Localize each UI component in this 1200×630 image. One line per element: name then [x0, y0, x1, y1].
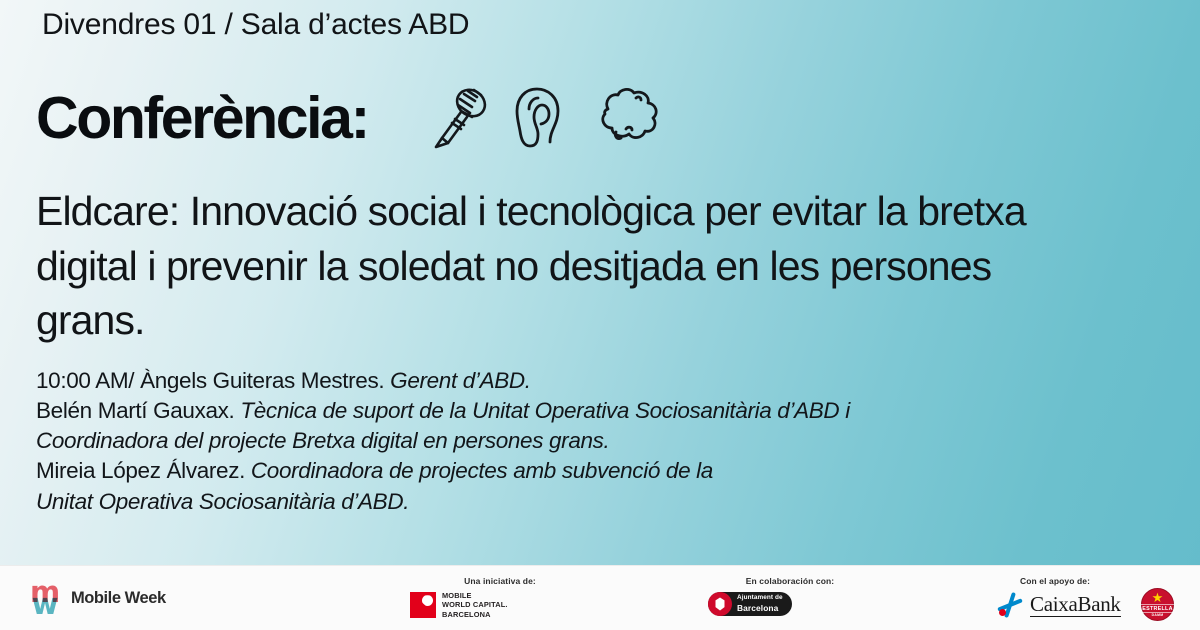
caixabank-star-icon [997, 592, 1023, 618]
initiative-cell: Una iniciativa de: MOBILE WORLD CAPITAL.… [360, 566, 640, 630]
speaker-line: Coordinadora del projecte Bretxa digital… [36, 426, 1116, 456]
damm-line-2: DAMM [1152, 613, 1164, 617]
event-title: Eldcare: Innovació social i tecnològica … [36, 184, 1096, 348]
collaboration-label: En colaboración con: [660, 576, 920, 586]
mwc-wordmark: MOBILE WORLD CAPITAL. BARCELONA [442, 591, 508, 619]
speaker-name: Mireia López Álvarez. [36, 458, 251, 483]
initiative-label: Una iniciativa de: [360, 576, 640, 586]
speaker-role: Coordinadora de projectes amb subvenció … [251, 458, 713, 483]
estrella-damm-logo[interactable]: ★ ESTRELLA DAMM [1141, 588, 1174, 621]
support-label: Con el apoyo de: [940, 576, 1170, 586]
ear-icon [512, 86, 564, 152]
collaboration-cell: En colaboración con: Ajuntament de Barce… [660, 566, 920, 630]
speaker-line: Mireia López Álvarez. Coordinadora de pr… [36, 456, 1116, 486]
speaker-line: Belén Martí Gauxax. Tècnica de suport de… [36, 396, 1116, 426]
mobile-week-wordmark: Mobile Week [71, 589, 166, 608]
doodle-icon-group [428, 86, 662, 152]
mwc-line-2: WORLD CAPITAL. [442, 600, 508, 609]
microphone-icon [428, 86, 490, 152]
speaker-role: Gerent d’ABD. [390, 368, 531, 393]
caixabank-wordmark: CaixaBank [1030, 593, 1121, 616]
conference-heading-row: Conferència: [36, 84, 662, 152]
speaker-role: Coordinadora del projecte Bretxa digital… [36, 428, 609, 453]
support-cell: Con el apoyo de: CaixaBank ★ ESTRELLA DA… [940, 566, 1200, 630]
mwc-square-icon [410, 592, 436, 618]
speaker-line: 10:00 AM/ Àngels Guiteras Mestres. Geren… [36, 366, 1116, 396]
mobile-week-logo[interactable]: m w Mobile Week [30, 566, 166, 630]
mark-letter-w: w [30, 594, 60, 615]
speaker-name: 10:00 AM/ Àngels Guiteras Mestres. [36, 368, 390, 393]
speaker-role: Tècnica de suport de la Unitat Operativa… [240, 398, 850, 423]
damm-line-1: ESTRELLA [1141, 604, 1173, 613]
speaker-name: Belén Martí Gauxax. [36, 398, 240, 423]
ajb-line-1: Ajuntament de [737, 594, 783, 602]
page-title: Conferència: [36, 89, 368, 148]
damm-star-icon: ★ [1152, 593, 1164, 603]
mobile-week-mark-icon: m w [30, 582, 60, 616]
speaker-line: Unitat Operativa Sociosanitària d’ABD. [36, 487, 1116, 517]
mobile-world-capital-logo[interactable]: MOBILE WORLD CAPITAL. BARCELONA [410, 591, 508, 619]
event-poster: Divendres 01 / Sala d’actes ABD Conferèn… [0, 0, 1200, 630]
barcelona-shield-icon [708, 592, 732, 616]
ajuntament-wordmark: Ajuntament de Barcelona [737, 594, 783, 613]
speaker-role: Unitat Operativa Sociosanitària d’ABD. [36, 489, 409, 514]
sponsor-footer: m w Mobile Week Una iniciativa de: MOBIL… [0, 565, 1200, 630]
caixabank-logo[interactable]: CaixaBank [997, 592, 1121, 618]
mwc-line-3: BARCELONA [442, 610, 508, 619]
ajb-line-2: Barcelona [737, 603, 783, 614]
speakers-block: 10:00 AM/ Àngels Guiteras Mestres. Geren… [36, 366, 1116, 517]
mwc-line-1: MOBILE [442, 591, 508, 600]
thought-cloud-icon [586, 86, 662, 152]
event-date-venue: Divendres 01 / Sala d’actes ABD [42, 8, 469, 42]
ajuntament-barcelona-logo[interactable]: Ajuntament de Barcelona [708, 592, 792, 616]
